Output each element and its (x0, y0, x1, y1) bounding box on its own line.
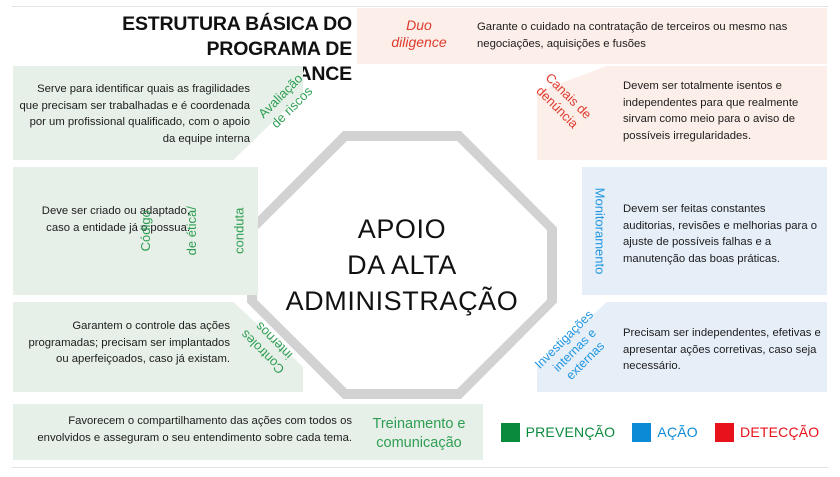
legend-swatch-deteccao-icon (715, 423, 734, 442)
panel-codigo-de-etica-conduta-label-line-2: de ética/ (183, 206, 198, 255)
legend-label-deteccao: DETECÇÃO (740, 424, 819, 440)
panel-monitoramento-label: Monitoramento (586, 179, 612, 283)
legend: PREVENÇÃO AÇÃO DETECÇÃO (492, 404, 828, 460)
center-label-line-3: ADMINISTRAÇÃO (286, 283, 519, 319)
bottom-divider (12, 467, 828, 468)
top-divider (12, 6, 828, 7)
panel-treinamento-label-line-1: Treinamento e (363, 415, 475, 434)
page-title-line-1: ESTRUTURA BÁSICA DO (96, 12, 352, 37)
panel-monitoramento-text: Devem ser feitas constantes auditorias, … (623, 201, 819, 267)
legend-item-acao[interactable]: AÇÃO (632, 423, 697, 442)
panel-avaliacao-de-riscos-text: Serve para identificar quais as fragilid… (18, 81, 250, 147)
panel-duo-diligence-text: Garante o cuidado na contratação de terc… (477, 19, 807, 52)
panel-duo-diligence-label-line-2: diligence (374, 34, 464, 51)
panel-treinamento-e-comunicacao-label: Treinamento e comunicação (363, 415, 475, 453)
panel-duo-diligence-label: Duo diligence (374, 17, 464, 51)
panel-canais-de-denuncia-text: Devem ser totalmente isentos e independe… (623, 78, 813, 144)
legend-swatch-prevencao-icon (501, 423, 520, 442)
panel-codigo-de-etica-conduta-label-line-1: Código (138, 210, 153, 251)
panel-codigo-de-etica-conduta-label: Código de ética/ conduta (158, 179, 262, 283)
panel-codigo-de-etica-conduta-label-line-3: conduta (231, 208, 246, 254)
panel-monitoramento-label-text: Monitoramento (592, 188, 607, 275)
legend-label-acao: AÇÃO (657, 424, 697, 440)
center-label-line-1: APOIO (286, 211, 519, 247)
panel-treinamento-label-line-2: comunicação (363, 434, 475, 453)
legend-label-prevencao: PREVENÇÃO (526, 424, 616, 440)
legend-item-deteccao[interactable]: DETECÇÃO (715, 423, 819, 442)
panel-treinamento-e-comunicacao-text: Favorecem o compartilhamento das ações c… (36, 413, 352, 446)
panel-duo-diligence-label-line-1: Duo (374, 17, 464, 34)
panel-controles-internos-text: Garantem o controle das ações programada… (18, 318, 230, 368)
center-label: APOIO DA ALTA ADMINISTRAÇÃO (257, 141, 547, 389)
infographic-root: ESTRUTURA BÁSICA DO PROGRAMA DE COMPLIAN… (0, 0, 840, 477)
legend-swatch-acao-icon (632, 423, 651, 442)
center-label-line-2: DA ALTA (286, 247, 519, 283)
legend-item-prevencao[interactable]: PREVENÇÃO (501, 423, 616, 442)
panel-investigacoes-internas-e-externas-text: Precisam ser independentes, efetivas e a… (623, 325, 823, 375)
